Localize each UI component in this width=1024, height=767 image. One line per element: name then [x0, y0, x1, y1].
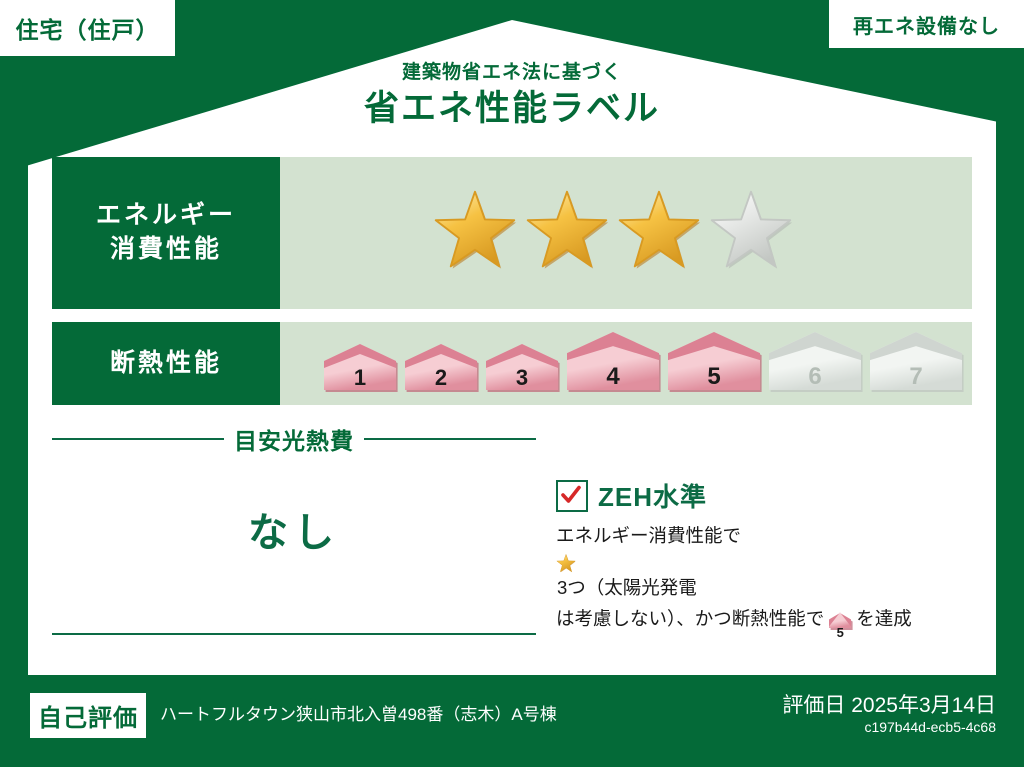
self-evaluation-badge: 自己評価: [30, 693, 146, 738]
insulation-grade-6: 6: [767, 330, 863, 397]
insulation-grade-number: 1: [322, 365, 398, 391]
badge-renewable-energy: 再エネ設備なし: [829, 0, 1024, 48]
insulation-grade-number: 2: [403, 365, 479, 391]
star-icon: [708, 190, 794, 276]
zeh-desc-part1: エネルギー消費性能で: [556, 525, 741, 546]
zeh-title: ZEH水準: [598, 477, 707, 514]
badge-building-type: 住宅（住戸）: [0, 0, 175, 56]
utility-cost-heading-label: 目安光熱費: [234, 422, 354, 456]
zeh-description: エネルギー消費性能で 3つ（太陽光発電 は考慮しない）、かつ断熱性能で 5を達成: [556, 522, 976, 639]
star-icon: [432, 190, 518, 276]
insulation-grade-3: 3: [484, 342, 560, 397]
star-icon: [556, 554, 976, 574]
insulation-grade-1: 1: [322, 342, 398, 397]
star-icon: [524, 190, 610, 276]
insulation-grade-number: 7: [868, 363, 964, 391]
evaluation-id: c197b44d-ecb5-4c68: [864, 719, 996, 735]
footer: 自己評価 ハートフルタウン狭山市北入曽498番（志木）A号棟 評価日 2025年…: [0, 675, 1024, 767]
badge-renewable-energy-label: 再エネ設備なし: [853, 10, 1000, 39]
utility-cost-bottom-rule: [52, 633, 536, 635]
insulation-grade-number: 3: [484, 365, 560, 391]
insulation-performance-label: 断熱性能: [52, 322, 280, 405]
insulation-grade-number: 6: [767, 363, 863, 391]
energy-performance-body: [280, 157, 972, 309]
zeh-standard-block: ZEH水準 エネルギー消費性能で 3つ（太陽光発電 は考慮しない）、かつ断熱性能…: [556, 477, 976, 639]
energy-performance-label-line1: エネルギー: [96, 199, 236, 233]
page-title: 建築物省エネ法に基づく 省エネ性能ラベル: [0, 62, 1024, 131]
insulation-grade-5: 5: [666, 330, 762, 397]
insulation-performance-body: 1 2 3: [280, 322, 972, 405]
energy-performance-row: エネルギー 消費性能: [52, 157, 972, 309]
zeh-desc-part4: を達成: [856, 608, 912, 629]
insulation-performance-label-line1: 断熱性能: [110, 347, 222, 381]
zeh-heading: ZEH水準: [556, 477, 976, 514]
insulation-grade-4: 4: [565, 330, 661, 397]
energy-performance-label-line2: 消費性能: [110, 233, 222, 267]
insulation-grade-scale: 1 2 3: [322, 330, 964, 397]
title-main: 省エネ性能ラベル: [0, 87, 1024, 131]
insulation-grade-2: 2: [403, 342, 479, 397]
heading-rule-right: [364, 438, 536, 440]
star-icon: [616, 190, 702, 276]
evaluation-date: 評価日 2025年3月14日: [782, 689, 996, 719]
energy-performance-label: エネルギー 消費性能: [52, 157, 280, 309]
title-subtitle: 建築物省エネ法に基づく: [0, 62, 1024, 85]
insulation-grade-number: 5: [666, 363, 762, 391]
zeh-desc-part2: 3つ（太陽光発電: [557, 577, 697, 598]
utility-cost-heading: 目安光熱費: [52, 422, 536, 456]
insulation-grade-chip: 5: [827, 613, 853, 634]
badge-building-type-label: 住宅（住戸）: [16, 11, 160, 45]
property-address: ハートフルタウン狭山市北入曽498番（志木）A号棟: [160, 700, 557, 725]
insulation-performance-row: 断熱性能 1 2: [52, 322, 972, 405]
insulation-grade-number: 4: [565, 363, 661, 391]
zeh-desc-part3: は考慮しない）、かつ断熱性能で: [556, 608, 824, 629]
heading-rule-left: [52, 438, 224, 440]
check-icon: [556, 480, 588, 512]
insulation-grade-7: 7: [868, 330, 964, 397]
star-rating: [432, 190, 794, 276]
utility-cost-value: なし: [52, 500, 536, 558]
